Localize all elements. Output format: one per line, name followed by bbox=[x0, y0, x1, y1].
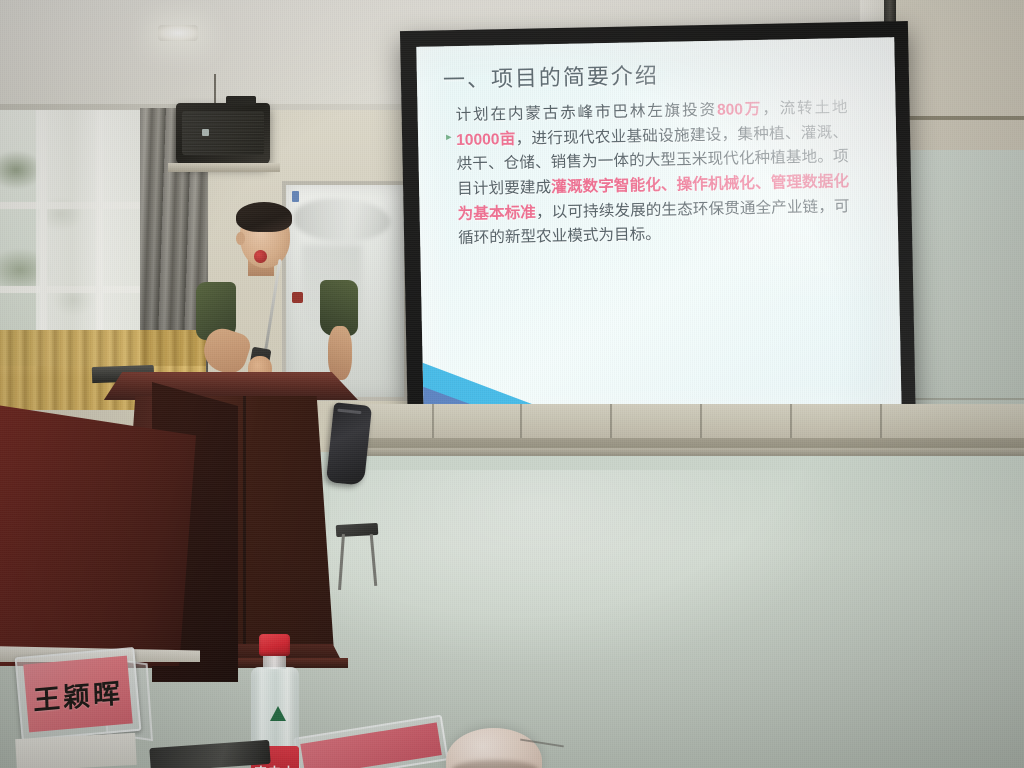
wall-band-seam bbox=[880, 404, 882, 440]
speaker-grille bbox=[182, 111, 264, 155]
bottle-cap[interactable] bbox=[259, 634, 290, 656]
right-panel-upper bbox=[896, 0, 1024, 150]
floor-skirting bbox=[366, 448, 1024, 456]
nameplate: 王颖晖 bbox=[15, 647, 142, 741]
wall-band-under-screen bbox=[366, 404, 1024, 440]
wall-band-seam bbox=[520, 404, 522, 440]
presentation-room-photo: 一、项目的简要介绍 ▸ 计划在内蒙古赤峰市巴林左旗投资800万，流转土地1000… bbox=[0, 0, 1024, 768]
slide-title: 一、项目的简要介绍 bbox=[443, 58, 660, 94]
wall-band-seam bbox=[610, 404, 612, 440]
right-panel-lower bbox=[896, 150, 1024, 420]
foreground-paper bbox=[15, 733, 137, 768]
arm-right bbox=[328, 326, 352, 380]
bullet-marker-icon: ▸ bbox=[446, 130, 452, 143]
speaker-shelf bbox=[168, 163, 280, 172]
loudspeaker-icon bbox=[176, 103, 270, 165]
lectern-top bbox=[96, 372, 358, 400]
bottle-logo-icon bbox=[270, 706, 286, 721]
slide-segment-highlight: 10000亩 bbox=[456, 130, 516, 148]
nameplate-card: 王颖晖 bbox=[23, 656, 133, 733]
speaker-bracket bbox=[226, 96, 256, 105]
ear bbox=[236, 232, 245, 245]
floor-light-reflection bbox=[330, 470, 850, 670]
speaker-suspension-wire bbox=[214, 74, 216, 104]
wall-band-seam bbox=[432, 404, 434, 440]
hair bbox=[236, 202, 292, 232]
slide-segment-highlight: 800万 bbox=[717, 101, 763, 119]
projection-screen: 一、项目的简要介绍 ▸ 计划在内蒙古赤峰市巴林左旗投资800万，流转土地1000… bbox=[400, 21, 916, 441]
bottle-neck bbox=[263, 655, 286, 669]
ceiling-light bbox=[158, 25, 198, 41]
right-panel-divider bbox=[896, 116, 1024, 120]
speaker-led bbox=[202, 129, 209, 136]
presenter bbox=[196, 196, 372, 396]
powerpoint-slide: 一、项目的简要介绍 ▸ 计划在内蒙古赤峰市巴林左旗投资800万，流转土地1000… bbox=[416, 37, 901, 423]
front-desk bbox=[0, 398, 196, 666]
microphone-head-icon bbox=[254, 250, 267, 263]
slide-segment: ，流转土地 bbox=[762, 99, 848, 118]
nameplate-name: 王颖晖 bbox=[32, 671, 123, 718]
wall-band-seam bbox=[790, 404, 792, 440]
shirt-badge bbox=[292, 292, 303, 303]
slide-body-text: 计划在内蒙古赤峰市巴林左旗投资800万，流转土地10000亩，进行现代农业基础设… bbox=[455, 96, 850, 252]
wall-band-seam bbox=[700, 404, 702, 440]
slide-segment: 计划在内蒙古赤峰市巴林左旗投资 bbox=[455, 102, 717, 124]
